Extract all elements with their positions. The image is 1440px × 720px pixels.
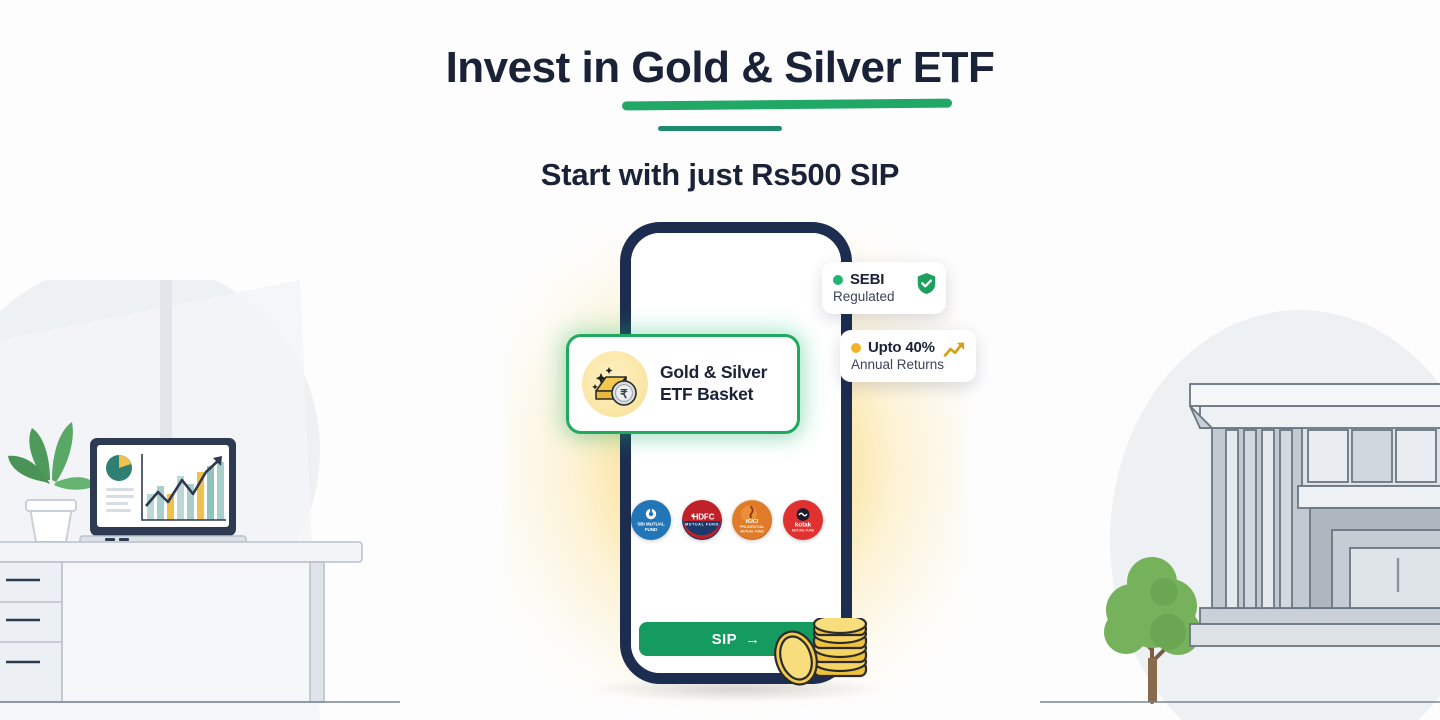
green-status-dot-icon	[833, 275, 843, 285]
basket-card-title-line2: ETF Basket	[660, 384, 767, 406]
returns-badge-prefix: Upto	[868, 339, 905, 356]
phone-screen	[631, 233, 841, 673]
shield-check-icon	[916, 272, 937, 300]
status-badge-sebi: SEBI Regulated	[822, 262, 946, 314]
svg-text:FUND: FUND	[645, 527, 658, 532]
returns-badge-title: Upto 40%	[868, 339, 935, 356]
fund-logo-icici[interactable]: ICICI PRUDENTIAL MUTUAL FUND	[732, 500, 772, 540]
fund-logo-sbi[interactable]: SBI MUTUAL FUND	[631, 500, 671, 540]
returns-badge-value: 40%	[905, 339, 934, 356]
basket-card-title-line1: Gold & Silver	[660, 362, 767, 384]
gold-coins-stack-icon	[762, 618, 872, 703]
svg-text:PRUDENTIAL: PRUDENTIAL	[740, 524, 765, 529]
trending-up-arrow-icon	[943, 340, 967, 365]
svg-text:MUTUAL FUND: MUTUAL FUND	[741, 529, 765, 533]
fund-logo-kotak[interactable]: kotak MUTUAL FUND	[783, 500, 823, 540]
arrow-right-icon: →	[745, 631, 760, 648]
phone-frame	[620, 222, 852, 684]
svg-text:SBI MUTUAL: SBI MUTUAL	[637, 522, 665, 527]
phone-mockup-area: ₹ Gold & Silver ETF Basket SEBI Regulate…	[0, 0, 1440, 720]
gold-status-dot-icon	[851, 343, 861, 353]
fund-house-logos: SBI MUTUAL FUND HDFC MUTUAL FUND	[631, 500, 823, 540]
gold-bar-rupee-coin-icon: ₹	[582, 351, 648, 417]
sebi-badge-title: SEBI	[850, 271, 884, 288]
promo-banner: Invest in Gold & Silver ETF Start with j…	[0, 0, 1440, 720]
svg-text:MUTUAL FUND: MUTUAL FUND	[792, 528, 815, 532]
fund-logo-hdfc[interactable]: HDFC MUTUAL FUND	[682, 500, 722, 540]
svg-text:₹: ₹	[620, 387, 628, 401]
gold-silver-etf-basket-card[interactable]: ₹ Gold & Silver ETF Basket	[566, 334, 800, 434]
basket-card-title: Gold & Silver ETF Basket	[660, 362, 767, 405]
sip-button-label: SIP	[712, 631, 737, 648]
svg-text:MUTUAL FUND: MUTUAL FUND	[685, 523, 719, 527]
status-badge-returns: Upto 40% Annual Returns	[840, 330, 976, 382]
svg-text:HDFC: HDFC	[692, 513, 714, 522]
